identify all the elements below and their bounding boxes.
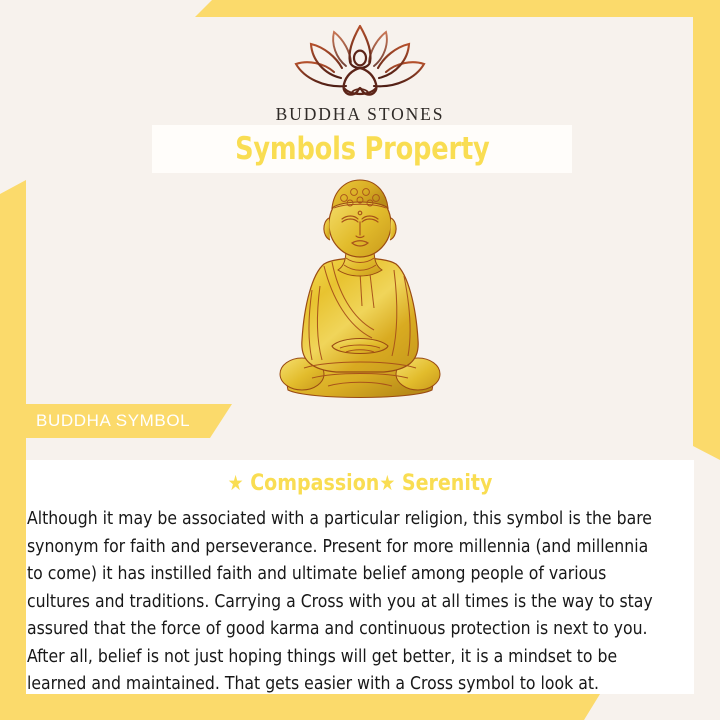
content-panel: ★ Compassion★ Serenity Although it may b…: [26, 460, 694, 694]
star-icon-left: ★: [228, 471, 244, 495]
subtitle-word-serenity: Serenity: [395, 470, 492, 496]
golden-buddha-statue-image: [262, 178, 458, 406]
left-accent-band: [0, 180, 26, 720]
title-banner: Symbols Property: [152, 125, 572, 173]
subtitle-word-compassion: Compassion: [244, 470, 380, 496]
brand-logo: BUDDHA STONES: [0, 22, 720, 125]
poster-canvas: BUDDHA STONES Symbols Property: [0, 0, 720, 720]
section-badge-label: BUDDHA SYMBOL: [36, 411, 190, 431]
brand-name: BUDDHA STONES: [276, 104, 445, 125]
content-subtitle: ★ Compassion★ Serenity: [46, 470, 674, 496]
body-paragraph: Although it may be associated with a par…: [26, 505, 671, 698]
section-badge: BUDDHA SYMBOL: [0, 404, 232, 438]
lotus-meditation-icon: [284, 22, 436, 100]
page-title: Symbols Property: [235, 131, 490, 167]
top-accent-band: [195, 0, 720, 17]
bottom-accent-band: [0, 694, 600, 720]
star-icon-right: ★: [379, 471, 395, 495]
